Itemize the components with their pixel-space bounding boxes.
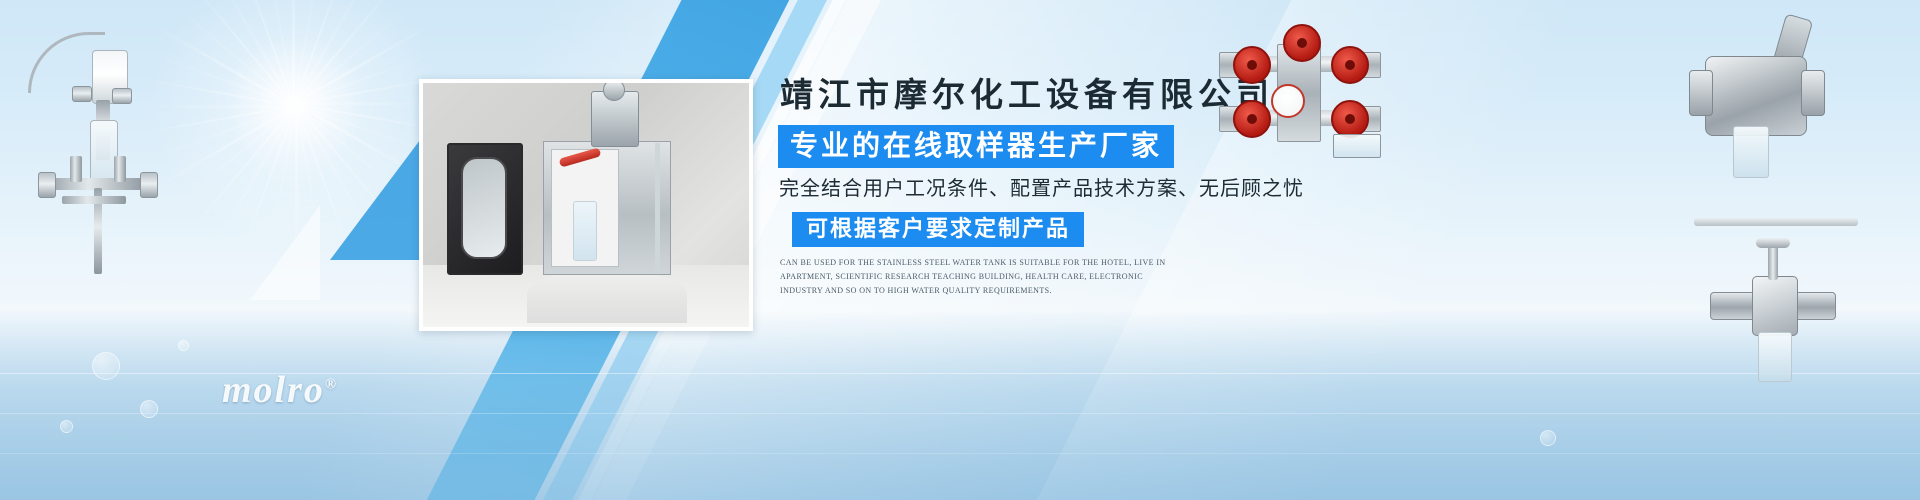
triangle-accent-blue [330,140,420,260]
watermark-text: molro [222,369,325,411]
bubble-decoration [1540,430,1556,446]
christmas-tree-valve-assembly-photo [1215,38,1385,148]
red-handwheel-top [1283,24,1321,62]
bubble-decoration [60,420,73,433]
sun-ray [237,0,295,106]
sun-ray [295,104,402,231]
triangle-accent-white [250,205,320,300]
sun-ray [169,105,296,212]
red-handwheel [1233,100,1271,138]
shelf-line [1694,218,1858,226]
valve-hub [1752,276,1798,336]
sun-ray [189,105,296,232]
valve-cap [1756,238,1790,248]
flange [140,172,158,198]
valve-flange-right [1801,70,1825,116]
sun-ray [151,23,295,108]
sun-ray [295,102,439,187]
product-photo-sampler-cabinet [419,79,753,331]
valve-stem [1768,244,1778,280]
sun-ray [294,0,324,105]
company-seal-logo [1271,84,1305,118]
sun-ray [188,0,295,106]
photo-pedestal [527,269,687,323]
red-handwheel [1331,100,1369,138]
sub-description: 完全结合用户工况条件、配置产品技术方案、无后顾之忧 [779,176,1418,203]
sun-ray [295,104,422,211]
sun-ray [213,105,298,249]
valve-stem [114,156,126,182]
sun-ray [265,0,295,105]
sun-ray [266,105,296,268]
primary-tagline-badge: 专业的在线取样器生产厂家 [778,125,1174,167]
sun-ray [292,0,295,105]
photo-door-window [461,157,507,259]
sun-ray [295,105,298,270]
left-sampler-equipment-photo [10,28,170,298]
red-handwheel [1331,46,1369,84]
sunburst-decoration [130,0,460,270]
sun-ray [168,0,295,106]
sun-ray [294,20,438,105]
promo-banner: 靖江市摩尔化工设备有限公司 专业的在线取样器生产厂家 完全结合用户工况条件、配置… [0,0,1920,500]
photo-sample-bottle [573,201,597,261]
valve-main-body [1705,56,1807,136]
valve-stem [70,156,82,182]
sun-ray [295,105,325,268]
horizon-line-c [0,453,1920,454]
small-valve-product-photo [1700,240,1850,390]
sun-ray [152,105,296,190]
flange [112,88,132,104]
sun-ray [294,0,352,105]
valve-flange-left [1689,70,1713,116]
large-valve-product-photo [1685,22,1845,192]
english-description: Can be used for the stainless steel wate… [780,256,1180,298]
valve-sight-glass [1758,332,1792,382]
valve-sight-glass [1733,126,1769,178]
sun-ray [294,0,421,105]
sun-ray [239,105,297,261]
sun-ray [294,0,401,105]
glass-container [1333,134,1381,158]
bubble-decoration [178,340,189,351]
flange [38,172,56,198]
secondary-tagline-badge: 可根据客户要求定制产品 [792,212,1084,248]
flange [72,86,92,102]
sun-ray [292,0,377,105]
watermark-registered-mark: ® [325,376,338,392]
lower-cross [62,196,126,204]
sun-ray [295,104,353,260]
horizon-line-b [0,413,1920,414]
watermark-logo: molro® [222,368,338,412]
bubble-decoration [140,400,158,418]
photo-valve-top [603,79,625,101]
bubble-decoration [92,352,120,380]
red-handwheel [1233,46,1271,84]
photo-side-tube [655,143,660,271]
sun-ray [210,0,295,107]
sun-ray [295,104,380,248]
